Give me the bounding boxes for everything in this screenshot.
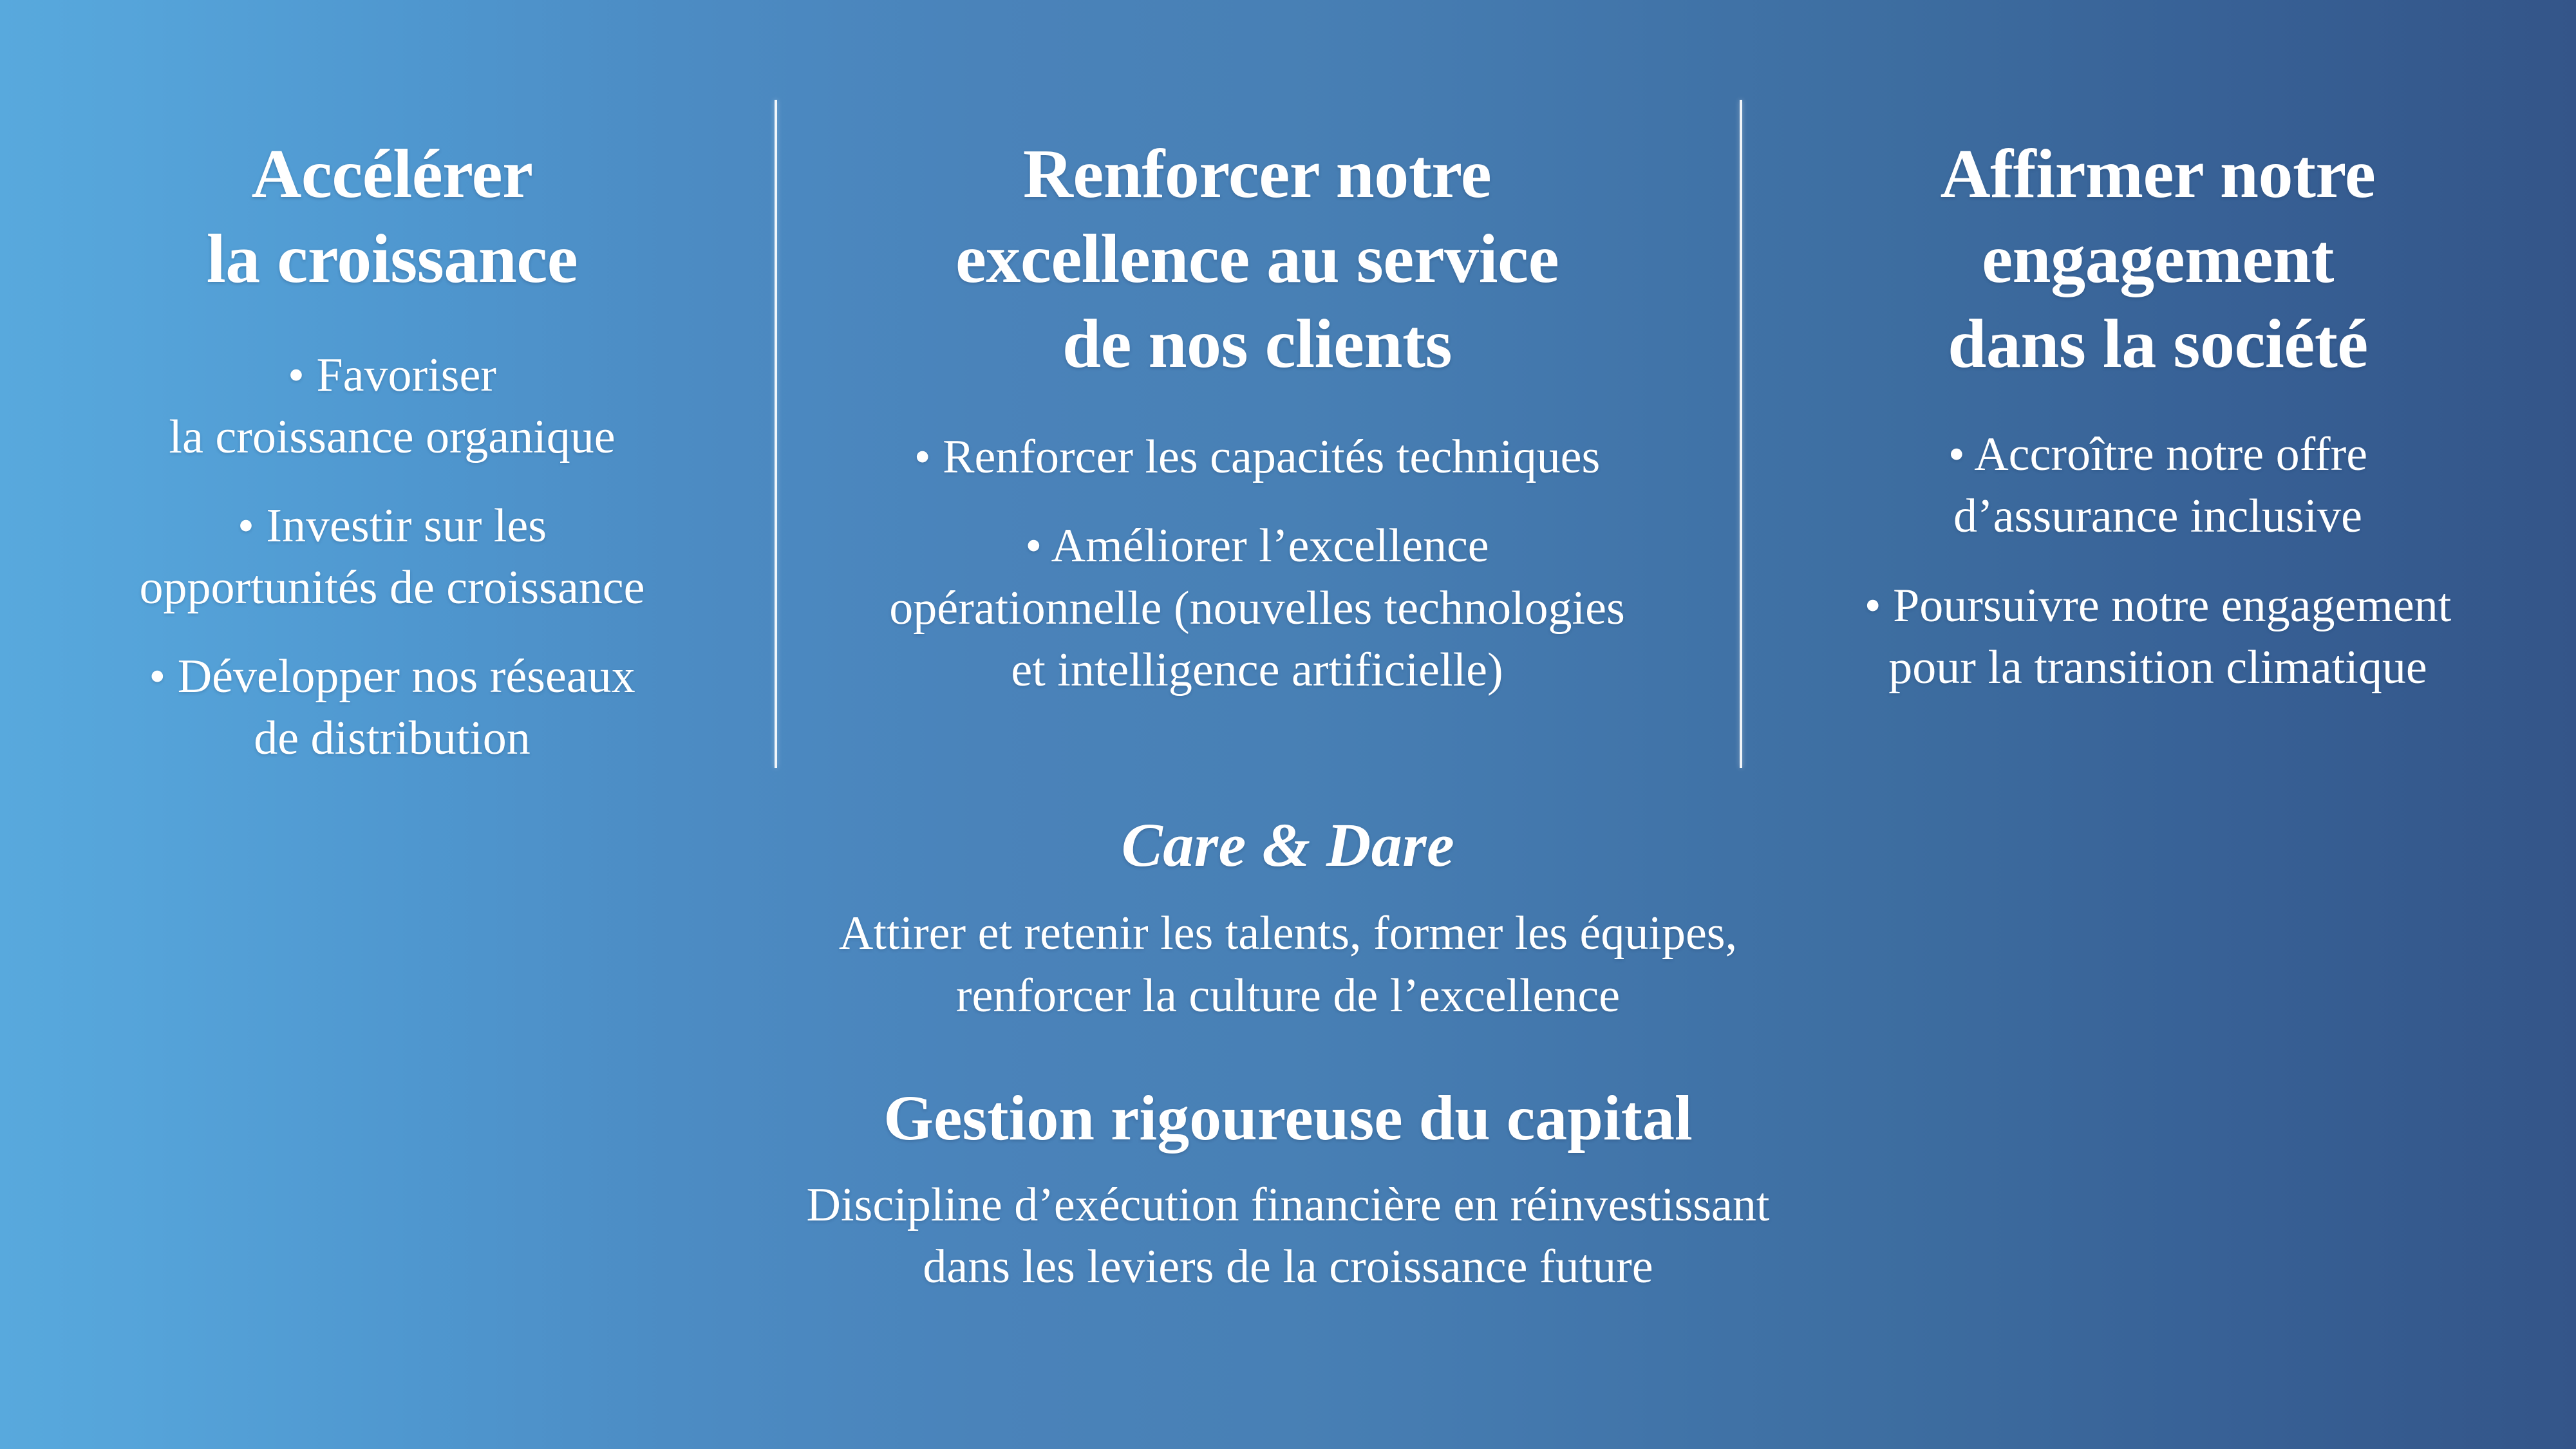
bullet-item: • Accroître notre offre d’assurance incl…	[1791, 424, 2524, 547]
column-title-line: excellence au service	[820, 217, 1695, 302]
column-title-line: de nos clients	[820, 302, 1695, 387]
bullet-line: pour la transition climatique	[1791, 637, 2524, 698]
bullet-item: • Renforcer les capacités techniques	[820, 426, 1695, 488]
block-care-and-dare: Care & Dare Attirer et retenir les talen…	[0, 792, 2576, 1027]
bullet-list-excellence: • Renforcer les capacités techniques • A…	[820, 426, 1695, 701]
bullet-line: • Améliorer l’excellence	[820, 515, 1695, 577]
column-title-line: Affirmer notre	[1791, 132, 2524, 217]
strategy-slide: Accélérer la croissance • Favoriser la c…	[0, 0, 2576, 1449]
bullet-item: • Poursuivre notre engagement pour la tr…	[1791, 575, 2524, 698]
column-title-growth: Accélérer la croissance	[68, 132, 717, 302]
bullet-line: d’assurance inclusive	[1791, 485, 2524, 547]
column-title-line: dans la société	[1791, 302, 2524, 387]
bullet-line: • Favoriser	[68, 344, 717, 406]
body-line: Attirer et retenir les talents, former l…	[0, 902, 2576, 964]
column-title-excellence: Renforcer notre excellence au service de…	[820, 132, 1695, 386]
bullet-item: • Favoriser la croissance organique	[68, 344, 717, 468]
column-title-line: Renforcer notre	[820, 132, 1695, 217]
gestion-capital-body: Discipline d’exécution financière en réi…	[0, 1174, 2576, 1298]
column-renforcer-notre-excellence: Renforcer notre excellence au service de…	[775, 0, 1740, 701]
column-title-line: la croissance	[68, 217, 717, 302]
column-title-line: engagement	[1791, 217, 2524, 302]
care-and-dare-heading: Care & Dare	[0, 810, 2576, 881]
bullet-list-growth: • Favoriser la croissance organique • In…	[68, 344, 717, 770]
bullet-item: • Améliorer l’excellence opérationnelle …	[820, 515, 1695, 701]
bullet-line: • Investir sur les	[68, 495, 717, 557]
bullet-line: opportunités de croissance	[68, 557, 717, 619]
bullet-line: de distribution	[68, 707, 717, 769]
bullet-line: • Poursuivre notre engagement	[1791, 575, 2524, 637]
bullet-list-society: • Accroître notre offre d’assurance incl…	[1791, 424, 2524, 698]
bullet-item: • Investir sur les opportunités de crois…	[68, 495, 717, 619]
body-line: dans les leviers de la croissance future	[0, 1236, 2576, 1298]
bullet-line: la croissance organique	[68, 406, 717, 468]
bullet-line: opérationnelle (nouvelles technologies	[820, 577, 1695, 639]
bullet-line: • Accroître notre offre	[1791, 424, 2524, 485]
bottom-blocks: Care & Dare Attirer et retenir les talen…	[0, 792, 2576, 1298]
bullet-line: • Renforcer les capacités techniques	[820, 426, 1695, 488]
column-title-society: Affirmer notre engagement dans la sociét…	[1791, 132, 2524, 386]
bullet-line: et intelligence artificielle)	[820, 639, 1695, 701]
column-accelerer-la-croissance: Accélérer la croissance • Favoriser la c…	[0, 0, 775, 770]
bullet-line: • Développer nos réseaux	[68, 646, 717, 707]
care-and-dare-body: Attirer et retenir les talents, former l…	[0, 902, 2576, 1026]
block-gestion-rigoureuse-du-capital: Gestion rigoureuse du capital Discipline…	[0, 1027, 2576, 1298]
column-affirmer-notre-engagement: Affirmer notre engagement dans la sociét…	[1740, 0, 2576, 698]
gestion-capital-heading: Gestion rigoureuse du capital	[0, 1081, 2576, 1155]
column-divider-right	[1740, 100, 1742, 768]
strategy-columns: Accélérer la croissance • Favoriser la c…	[0, 0, 2576, 792]
column-title-line: Accélérer	[68, 132, 717, 217]
bullet-item: • Développer nos réseaux de distribution	[68, 646, 717, 769]
body-line: renforcer la culture de l’excellence	[0, 965, 2576, 1027]
column-divider-left	[775, 100, 777, 768]
body-line: Discipline d’exécution financière en réi…	[0, 1174, 2576, 1236]
